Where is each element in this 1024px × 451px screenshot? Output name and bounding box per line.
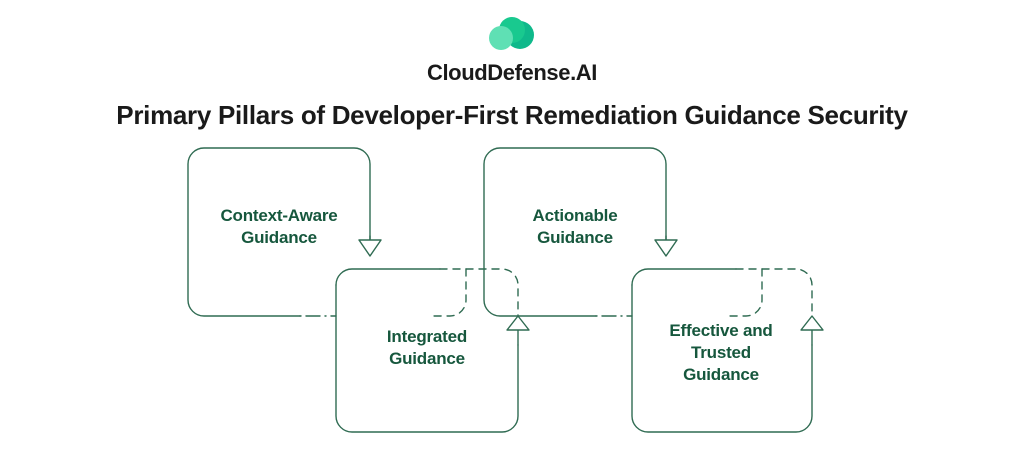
diagram-page: CloudDefense.AI Primary Pillars of Devel… <box>0 0 1024 451</box>
box-label-effective-and-trusted-guidance: Effective and Trusted Guidance <box>630 320 812 385</box>
pillars-diagram: Context-Aware Guidance Integrated Guidan… <box>0 0 1024 451</box>
box-label-integrated-guidance: Integrated Guidance <box>336 326 518 370</box>
box-label-actionable-guidance: Actionable Guidance <box>484 205 666 249</box>
box-label-context-aware-guidance: Context-Aware Guidance <box>188 205 370 249</box>
